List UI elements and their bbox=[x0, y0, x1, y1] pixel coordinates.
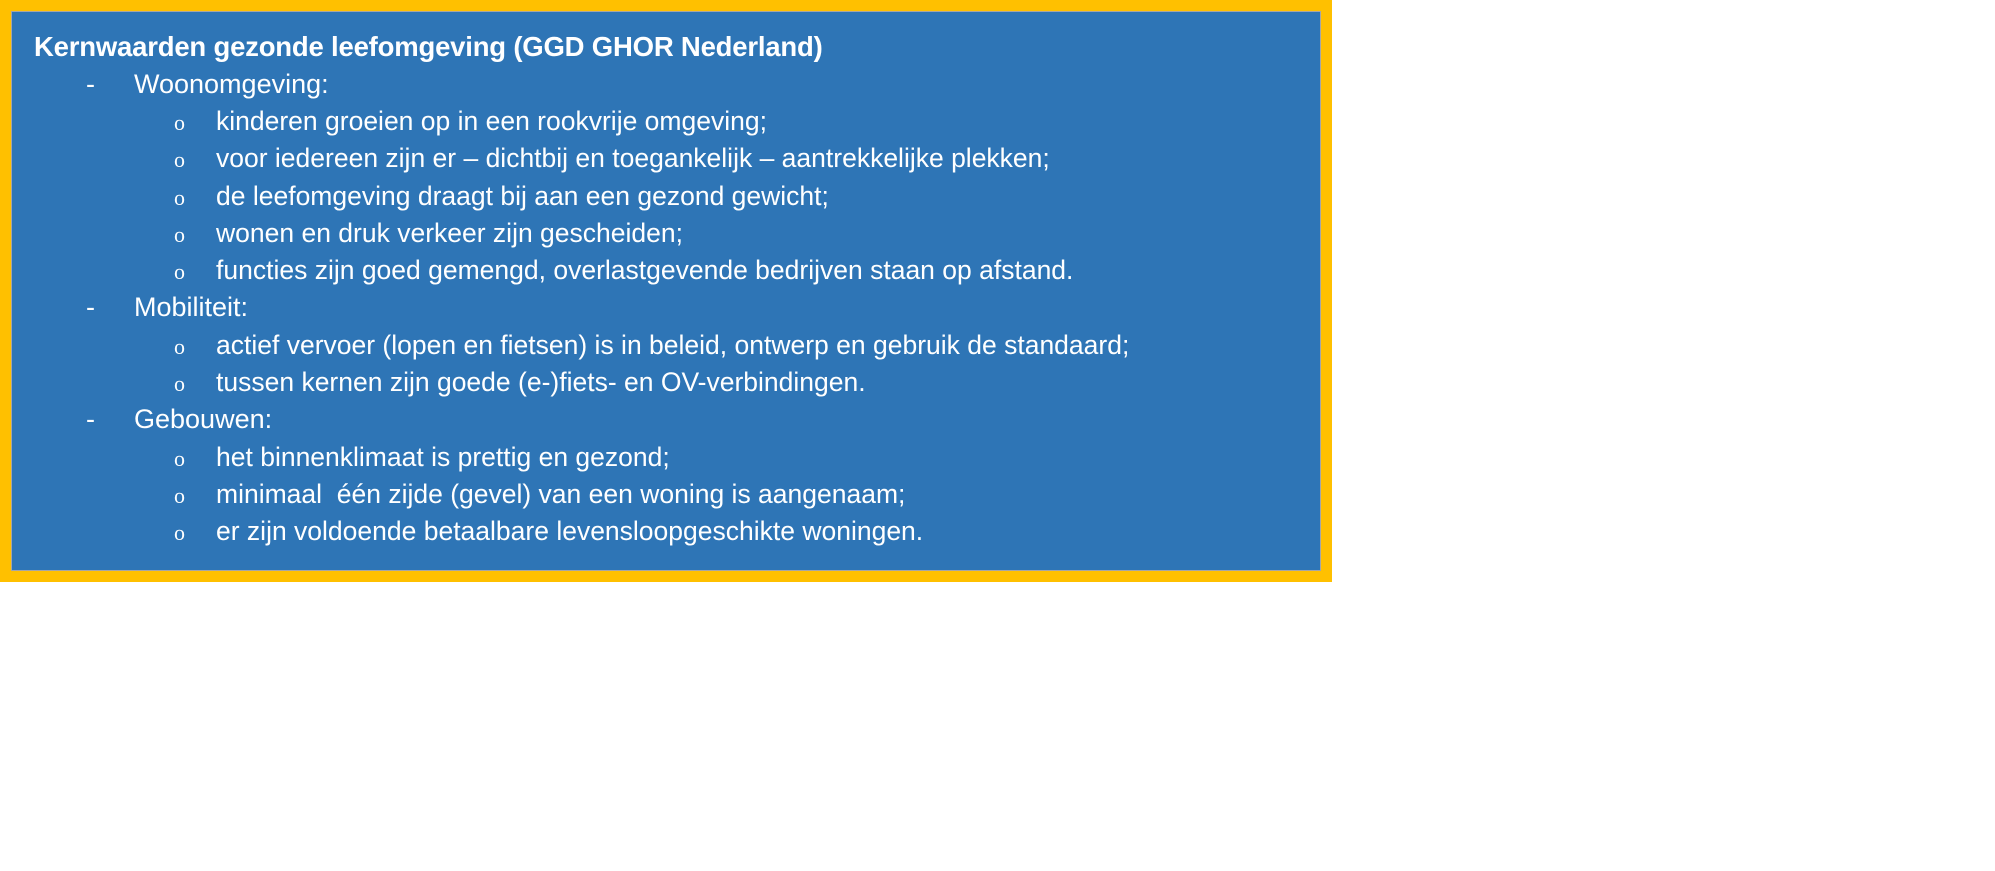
list-item: o er zijn voldoende betaalbare levensloo… bbox=[34, 513, 1298, 550]
list-item: o minimaal één zijde (gevel) van een won… bbox=[34, 476, 1298, 513]
circle-bullet-icon: o bbox=[174, 522, 216, 544]
dash-bullet-icon: - bbox=[86, 401, 134, 439]
list-item-label: functies zijn goed gemengd, overlastgeve… bbox=[216, 252, 1073, 289]
list-item-label: minimaal één zijde (gevel) van een wonin… bbox=[216, 476, 905, 513]
list-item-label: wonen en druk verkeer zijn gescheiden; bbox=[216, 215, 683, 252]
page-title: Kernwaarden gezonde leefomgeving (GGD GH… bbox=[34, 30, 1298, 64]
circle-bullet-icon: o bbox=[174, 224, 216, 246]
list-item-label: het binnenklimaat is prettig en gezond; bbox=[216, 439, 670, 476]
section-heading-row: - Woonomgeving: bbox=[34, 66, 1298, 104]
kernwaarden-callout-inner: Kernwaarden gezonde leefomgeving (GGD GH… bbox=[11, 11, 1321, 571]
section-heading-row: - Mobiliteit: bbox=[34, 289, 1298, 327]
list-item: o actief vervoer (lopen en fietsen) is i… bbox=[34, 327, 1298, 364]
circle-bullet-icon: o bbox=[174, 261, 216, 283]
list-item-label: kinderen groeien op in een rookvrije omg… bbox=[216, 103, 767, 140]
list-item-label: er zijn voldoende betaalbare levensloopg… bbox=[216, 513, 923, 550]
list-item: o voor iedereen zijn er – dichtbij en to… bbox=[34, 140, 1298, 177]
list-item: o wonen en druk verkeer zijn gescheiden; bbox=[34, 215, 1298, 252]
dash-bullet-icon: - bbox=[86, 66, 134, 104]
circle-bullet-icon: o bbox=[174, 485, 216, 507]
section-heading-label: Gebouwen: bbox=[134, 401, 272, 439]
list-item: o functies zijn goed gemengd, overlastge… bbox=[34, 252, 1298, 289]
circle-bullet-icon: o bbox=[174, 187, 216, 209]
circle-bullet-icon: o bbox=[174, 373, 216, 395]
list-item-label: tussen kernen zijn goede (e-)fiets- en O… bbox=[216, 364, 866, 401]
slide-canvas: Kernwaarden gezonde leefomgeving (GGD GH… bbox=[0, 0, 1995, 871]
circle-bullet-icon: o bbox=[174, 112, 216, 134]
kernwaarden-callout-box: Kernwaarden gezonde leefomgeving (GGD GH… bbox=[0, 0, 1332, 582]
list-item-label: de leefomgeving draagt bij aan een gezon… bbox=[216, 178, 829, 215]
circle-bullet-icon: o bbox=[174, 336, 216, 358]
list-item: o de leefomgeving draagt bij aan een gez… bbox=[34, 178, 1298, 215]
list-item: o kinderen groeien op in een rookvrije o… bbox=[34, 103, 1298, 140]
section-heading-label: Mobiliteit: bbox=[134, 289, 248, 327]
circle-bullet-icon: o bbox=[174, 149, 216, 171]
dash-bullet-icon: - bbox=[86, 289, 134, 327]
list-item: o het binnenklimaat is prettig en gezond… bbox=[34, 439, 1298, 476]
list-item-label: voor iedereen zijn er – dichtbij en toeg… bbox=[216, 140, 1050, 177]
list-item-label: actief vervoer (lopen en fietsen) is in … bbox=[216, 327, 1129, 364]
list-item: o tussen kernen zijn goede (e-)fiets- en… bbox=[34, 364, 1298, 401]
circle-bullet-icon: o bbox=[174, 448, 216, 470]
section-heading-row: - Gebouwen: bbox=[34, 401, 1298, 439]
section-heading-label: Woonomgeving: bbox=[134, 66, 329, 104]
